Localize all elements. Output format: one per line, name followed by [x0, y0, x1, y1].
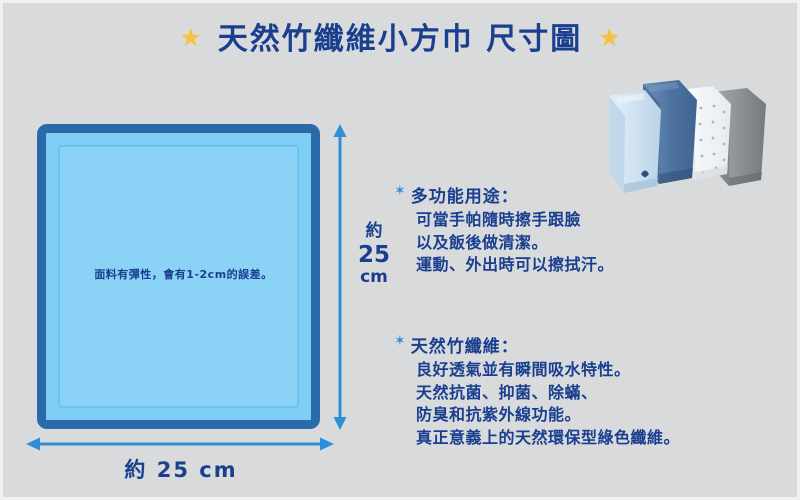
height-dimension-arrow [332, 124, 348, 430]
feature-line: 以及飯後做清潔。 [416, 232, 614, 255]
feature-heading: 多功能用途： [411, 182, 519, 207]
star-icon: ★ [598, 25, 620, 50]
width-dimension-label: 約 25 cm [66, 454, 296, 484]
towel-photo [561, 62, 776, 197]
sparkle-icon: ✶ [394, 182, 407, 201]
title-row: ★ 天然竹纖維小方巾 尺寸圖 ★ [0, 14, 800, 58]
feature-heading: 天然竹纖維： [411, 332, 519, 357]
feature-line: 天然抗菌、抑菌、除蟎、 [416, 382, 680, 405]
height-dimension-label: 約 25 cm [352, 222, 396, 288]
feature-lines: 良好透氣並有瞬間吸水特性。 天然抗菌、抑菌、除蟎、 防臭和抗紫外線功能。 真正意… [416, 359, 680, 450]
feature-line: 真正意義上的天然環保型綠色纖維。 [416, 427, 680, 450]
elasticity-note: 面料有彈性，會有1-2cm的誤差。 [56, 266, 311, 282]
feature-block-uses: ✶ 多功能用途： 可當手帕隨時擦手跟臉 以及飯後做清潔。 運動、外出時可以擦拭汗… [394, 182, 614, 277]
feature-lines: 可當手帕隨時擦手跟臉 以及飯後做清潔。 運動、外出時可以擦拭汗。 [416, 209, 614, 277]
light-blue-towel [609, 90, 661, 193]
page-title: 天然竹纖維小方巾 尺寸圖 [218, 14, 582, 58]
width-dimension-arrow [26, 435, 334, 453]
feature-line: 運動、外出時可以擦拭汗。 [416, 254, 614, 277]
sparkle-icon: ✶ [394, 332, 407, 351]
height-value: 25 [352, 242, 396, 269]
poster-canvas: ★ 天然竹纖維小方巾 尺寸圖 ★ 面料有彈性，會有1-2cm的誤差。 約 25 … [0, 0, 800, 500]
feature-heading-row: ✶ 天然竹纖維： [394, 332, 680, 357]
star-icon: ★ [179, 25, 201, 50]
feature-heading-row: ✶ 多功能用途： [394, 182, 614, 207]
feature-line: 可當手帕隨時擦手跟臉 [416, 209, 614, 232]
height-prefix: 約 [352, 222, 396, 242]
feature-line: 良好透氣並有瞬間吸水特性。 [416, 359, 680, 382]
height-unit: cm [352, 268, 396, 288]
towel-size-square: 面料有彈性，會有1-2cm的誤差。 [37, 124, 320, 429]
feature-line: 防臭和抗紫外線功能。 [416, 404, 680, 427]
feature-block-bamboo: ✶ 天然竹纖維： 良好透氣並有瞬間吸水特性。 天然抗菌、抑菌、除蟎、 防臭和抗紫… [394, 332, 680, 450]
